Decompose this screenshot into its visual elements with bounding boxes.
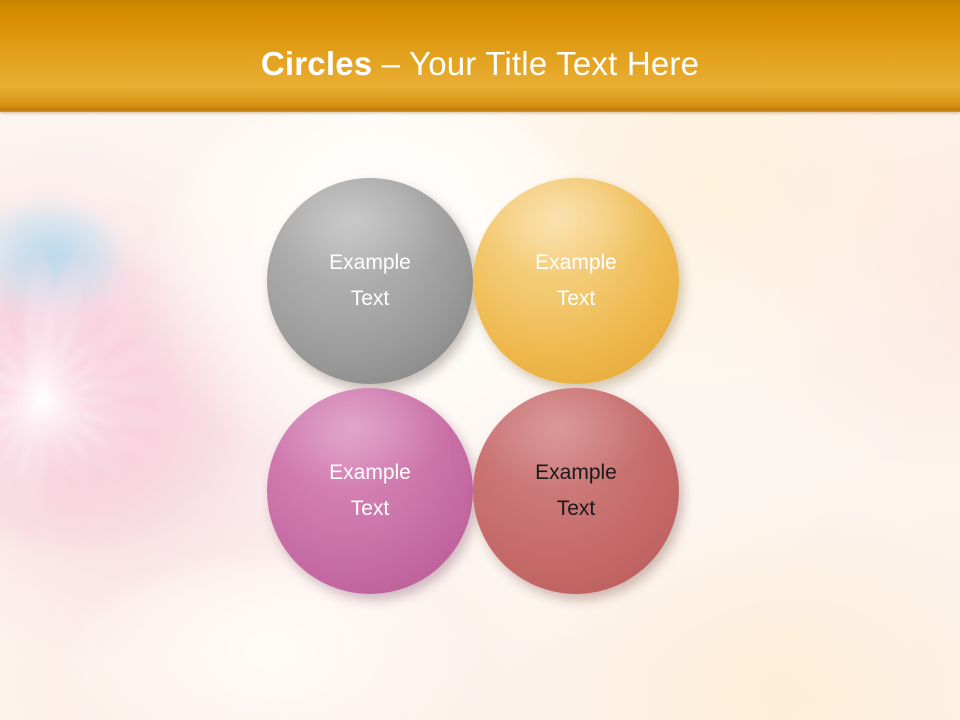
title-light: Your Title Text Here <box>409 45 699 82</box>
circle-gloss <box>267 178 473 384</box>
circle-pink[interactable]: Example Text <box>267 388 473 594</box>
page-title: Circles – Your Title Text Here <box>0 44 960 84</box>
circle-orange[interactable]: Example Text <box>473 178 679 384</box>
title-separator: – <box>372 45 409 82</box>
circle-gloss <box>473 388 679 594</box>
title-strong: Circles <box>261 45 372 82</box>
title-band: Circles – Your Title Text Here <box>0 0 960 112</box>
circle-gloss <box>267 388 473 594</box>
circle-gray[interactable]: Example Text <box>267 178 473 384</box>
slide-canvas: Circles – Your Title Text Here Example T… <box>0 0 960 720</box>
circle-red[interactable]: Example Text <box>473 388 679 594</box>
circle-gloss <box>473 178 679 384</box>
